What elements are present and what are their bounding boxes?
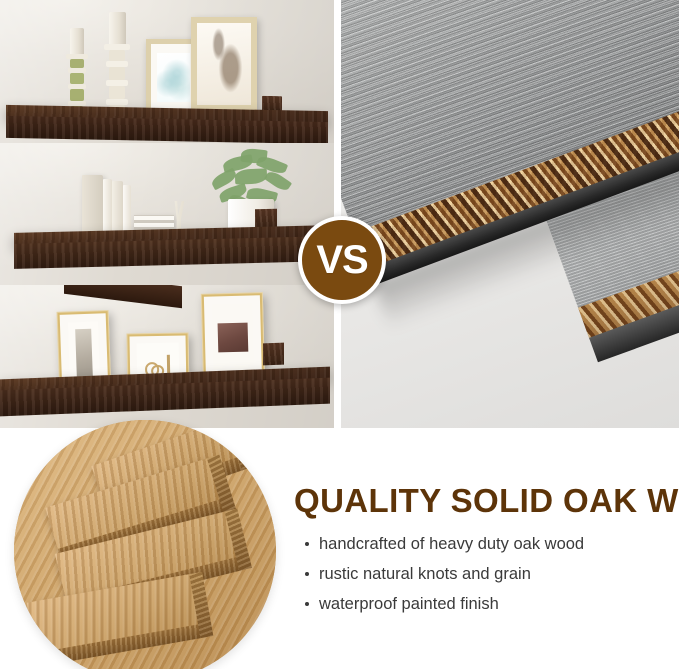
- shelf-photo-candles-and-frames: [0, 0, 334, 143]
- bullet-item: rustic natural knots and grain: [304, 564, 584, 584]
- candle-holder-green: [66, 28, 88, 112]
- right-panel-particle-board: [341, 0, 679, 428]
- oak-planks-circle-inset: [14, 420, 276, 669]
- bottom-feature-panel: QUALITY SOLID OAK WOOD handcrafted of he…: [0, 428, 679, 669]
- shelf-end-lip: [263, 343, 284, 366]
- vs-badge-label: VS: [316, 240, 367, 280]
- feature-bullet-list: handcrafted of heavy duty oak wood rusti…: [304, 534, 584, 624]
- shelf-photo-gold-frames: [0, 285, 334, 428]
- candle-holder-cream: [104, 12, 130, 114]
- shelf-photo-books-and-plant: [0, 143, 334, 285]
- left-panel-shelf-gallery: [0, 0, 334, 428]
- bullet-item: handcrafted of heavy duty oak wood: [304, 534, 584, 554]
- product-comparison-graphic: VS QUALITY SOLID OAK WOOD handcrafted of…: [0, 0, 679, 669]
- feature-headline: QUALITY SOLID OAK WOOD: [294, 482, 679, 520]
- frame-beige-abstract: [191, 17, 257, 111]
- bullet-item: waterproof painted finish: [304, 594, 584, 614]
- vs-badge: VS: [298, 216, 386, 304]
- feature-copy-block: QUALITY SOLID OAK WOOD handcrafted of he…: [292, 428, 679, 669]
